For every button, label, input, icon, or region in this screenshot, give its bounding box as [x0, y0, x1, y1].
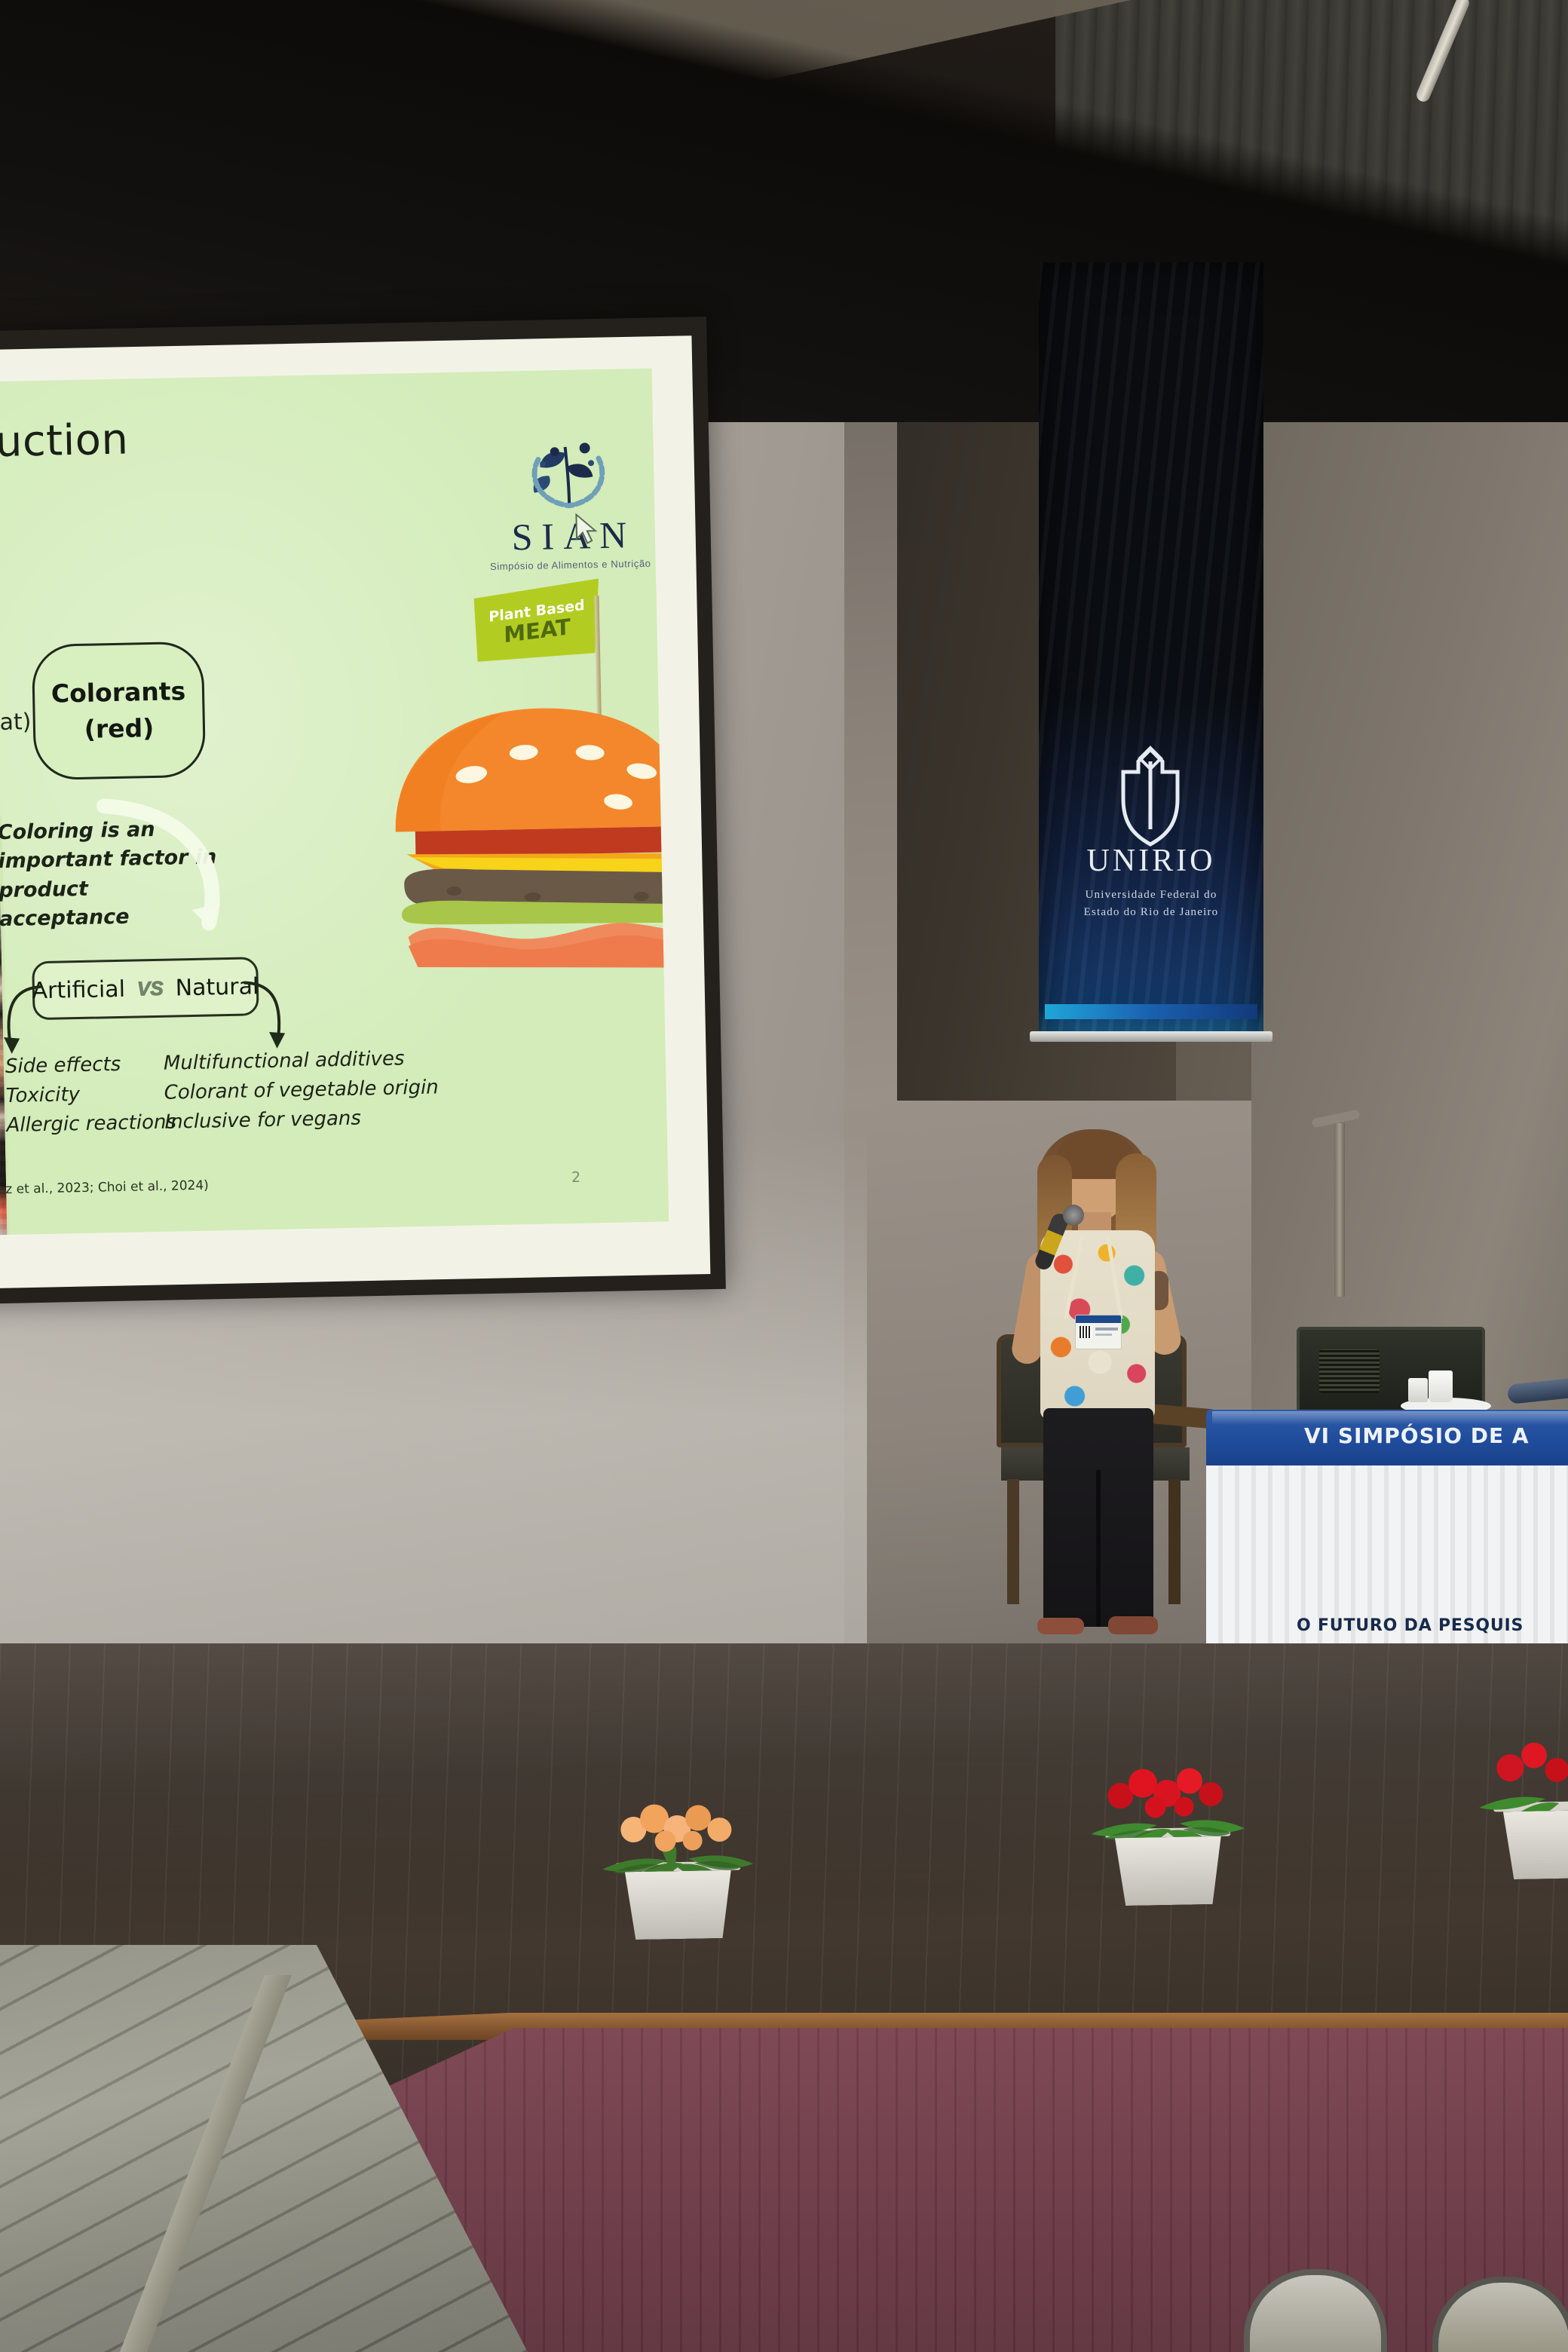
orange-blooms: [608, 1797, 747, 1857]
presenter-figure: [994, 1116, 1197, 1719]
burger-illustration: [381, 691, 669, 984]
vs-label: VS: [137, 976, 164, 1000]
colorants-line2: (red): [84, 710, 154, 748]
badge-name-line-2: [1095, 1334, 1112, 1336]
table-banner-title: VI SIMPÓSIO DE A: [1206, 1423, 1568, 1448]
plant-based-meat-flag: Plant Based MEAT: [474, 578, 601, 668]
microphone-head-icon: [1063, 1205, 1084, 1226]
planter-box: [1496, 1810, 1568, 1880]
planter-orange-flowers: [617, 1861, 742, 1940]
slide-page-number: 2: [571, 1169, 581, 1186]
sian-wordmark: SIAN: [482, 513, 657, 560]
badge-name-line: [1095, 1328, 1118, 1331]
planter-box: [1107, 1836, 1230, 1906]
conference-badge: [1075, 1315, 1122, 1349]
mouse-cursor-icon: [573, 513, 599, 547]
badge-qr-code-icon: [1080, 1326, 1092, 1338]
slide-citation: Fernández-López et al., 2023; Choi et al…: [0, 1178, 209, 1199]
water-cup-small: [1408, 1378, 1428, 1402]
mic-stand-pole: [1334, 1123, 1345, 1297]
natural-benefits-list: Multifunctional additives Colorant of ve…: [164, 1043, 439, 1137]
sian-logo: SIAN Simpósio de Alimentos e Nutrição: [481, 429, 657, 573]
table-skirt: O FUTURO DA PESQUIS S Simp PPGAN UNI: [1206, 1465, 1568, 1649]
water-cup: [1429, 1370, 1453, 1402]
banner-bottom-stripe: [1045, 1004, 1257, 1019]
badge-header-bar: [1076, 1315, 1121, 1323]
red-blooms: [1096, 1762, 1240, 1823]
unirio-banner: UNIRIO Universidade Federal do Estado do…: [1039, 262, 1263, 1039]
unirio-crest-icon: [1105, 745, 1196, 858]
colorants-line1: Colorants: [51, 673, 185, 712]
slide-left-cropped-text: based meat) 38%): [0, 706, 32, 772]
shoe-left: [1037, 1618, 1084, 1634]
presentation-slide: troduction based meat) 38%) Colorants (r…: [0, 369, 669, 1236]
artificial-vs-natural-box: Artificial VS Natural: [32, 957, 259, 1020]
planter-red-flowers: [1107, 1827, 1232, 1906]
trouser-leg-gap: [1096, 1470, 1101, 1627]
artificial-drawbacks-list: Side effects Toxicity Allergic reactions: [5, 1049, 177, 1141]
slide-title: troduction: [0, 415, 129, 469]
table-banner-subtitle: O FUTURO DA PESQUIS: [1206, 1616, 1568, 1635]
sian-plant-emblem-icon: [522, 430, 614, 514]
stage-floor-reflection: [0, 1643, 1568, 1892]
colorants-callout: Colorants (red): [32, 642, 207, 781]
red-blooms-edge: [1484, 1735, 1568, 1796]
sian-subtitle: Simpósio de Alimentos e Nutrição: [484, 558, 657, 573]
unirio-name: UNIRIO: [1039, 843, 1263, 879]
shoe-right: [1108, 1616, 1158, 1634]
table-device: [1507, 1377, 1568, 1404]
speaker-grille: [1319, 1349, 1380, 1393]
unirio-subtitle: Universidade Federal do Estado do Rio de…: [1039, 887, 1263, 920]
photo-scene: troduction based meat) 38%) Colorants (r…: [0, 0, 1568, 2352]
planter-box: [617, 1870, 740, 1940]
banner-stand-bar: [1030, 1031, 1272, 1042]
planter-red-flowers-edge: [1496, 1801, 1568, 1880]
curved-arrow-icon: [93, 796, 240, 950]
